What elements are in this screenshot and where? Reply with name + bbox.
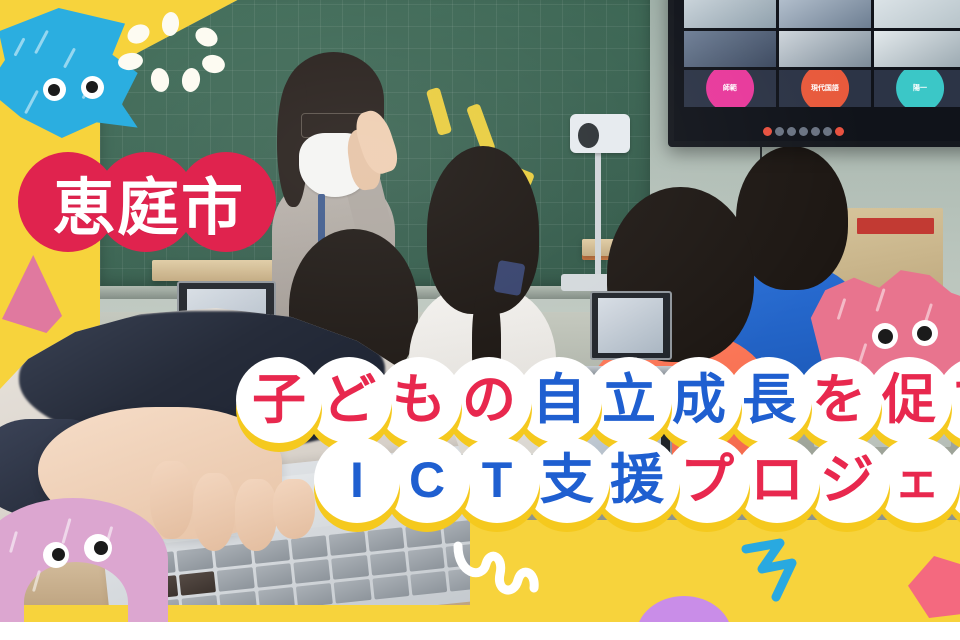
- city-badge: 恵庭市: [18, 152, 280, 252]
- box-label: [857, 218, 934, 234]
- hair-tie: [494, 260, 526, 296]
- blue-zigzag: [740, 535, 830, 607]
- title-line-2: ICT支援プロジェクト: [236, 437, 960, 523]
- pink-arch-character: [0, 498, 168, 626]
- camera-icon: [775, 127, 784, 136]
- more-options-icon: [823, 127, 832, 136]
- character-eye: [912, 320, 938, 346]
- chat-icon: [799, 127, 808, 136]
- end-call-icon: [835, 127, 844, 136]
- title-char-bubble: I: [314, 437, 400, 523]
- camera-lens-icon: [578, 123, 599, 148]
- title-line-1: 子どもの自立成長を促す: [236, 357, 960, 443]
- document-camera-pole: [595, 139, 600, 291]
- mic-icon: [763, 127, 772, 136]
- participant-avatar: 師範: [706, 70, 754, 106]
- video-tile: [684, 31, 776, 67]
- participant-avatar: 現代国語: [801, 70, 849, 106]
- video-tile: 師範: [684, 70, 776, 106]
- character-eye: [81, 76, 104, 99]
- video-call-grid: 師範 現代国語 陽一: [684, 0, 960, 107]
- participants-icon: [787, 127, 796, 136]
- pink-arch-shape: [0, 498, 168, 626]
- finger: [193, 473, 235, 551]
- poster-title: 子どもの自立成長を促す ICT支援プロジェクト: [236, 357, 960, 523]
- participant-avatar: 陽一: [896, 70, 944, 106]
- share-screen-icon: [811, 127, 820, 136]
- title-character: 子: [236, 357, 322, 443]
- video-tile: 現代国語: [779, 70, 871, 106]
- video-tile: 陽一: [874, 70, 960, 106]
- title-character: I: [314, 437, 400, 523]
- white-squiggle: [452, 540, 582, 610]
- title-char-bubble: 子: [236, 357, 322, 443]
- badge-label: 恵庭市: [18, 152, 280, 252]
- poster-canvas: JAPAN: [0, 0, 960, 640]
- bottom-white-strip: [0, 622, 960, 640]
- character-eye: [872, 323, 898, 349]
- wall-display-video-call: 師範 現代国語 陽一: [668, 0, 960, 147]
- laptop-screen: [590, 291, 671, 360]
- video-tile: [779, 31, 871, 67]
- character-eye: [43, 542, 69, 568]
- white-petal-sparkle: [118, 12, 228, 102]
- video-tile: [684, 0, 776, 28]
- character-eye: [43, 78, 66, 101]
- video-tile: [779, 0, 871, 28]
- video-call-toolbar: [763, 124, 844, 138]
- video-tile: [874, 0, 960, 28]
- video-tile: [874, 31, 960, 67]
